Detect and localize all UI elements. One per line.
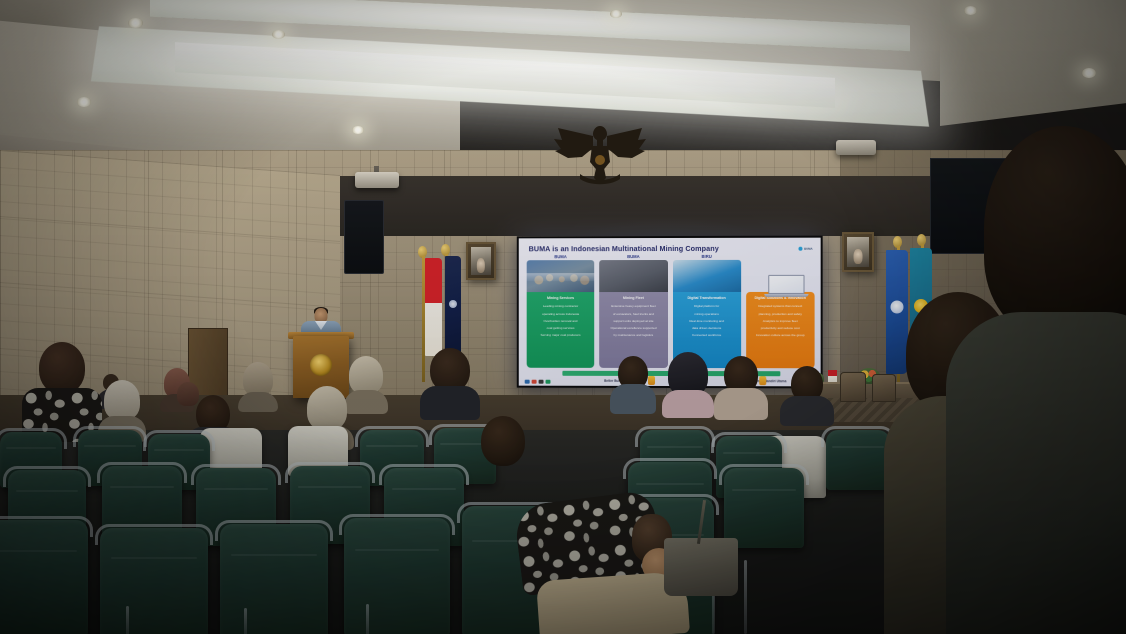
partner-logo-icon — [539, 380, 544, 384]
partner-logo-icon — [546, 380, 551, 384]
slide-column-line: Overburden removal and — [531, 318, 591, 322]
chair-leg — [744, 560, 747, 634]
slide-column-line: support units deployed at site — [603, 319, 663, 323]
chair-leg — [126, 606, 129, 634]
slide-column-line: Real-time monitoring and — [676, 319, 736, 323]
chair[interactable] — [724, 468, 804, 548]
ceiling-projector — [355, 172, 399, 188]
slide-column: BUMA Mining Services Leading mining cont… — [527, 255, 595, 368]
vice-president-portrait — [842, 232, 874, 272]
slide-column: BUMA Mining Fleet Extensive heavy equipm… — [599, 255, 667, 368]
logo-dot-icon — [799, 247, 803, 251]
chair-leg — [244, 608, 247, 634]
slide-corner-logo-text: BUMA — [804, 247, 812, 251]
audience-member — [610, 356, 656, 412]
slide-column-line: Operational excellence supported — [603, 326, 663, 330]
person-torso — [610, 384, 656, 414]
slide-column-photo — [599, 260, 667, 292]
slide-column-line: Connected workforce — [676, 333, 736, 337]
ceiling-projector — [836, 140, 876, 155]
chair[interactable] — [826, 430, 890, 490]
institution-gold-seal — [310, 354, 332, 376]
navy-institution-flag — [445, 256, 461, 360]
president-portrait — [466, 242, 496, 280]
person-torso — [946, 312, 1126, 634]
slide-column-photo — [672, 260, 740, 292]
chair[interactable] — [100, 528, 208, 634]
slide-column-line: Innovation culture across the group — [750, 333, 811, 337]
slide-column-header: BIRU — [672, 254, 740, 259]
slide-column-line: coal getting services — [531, 325, 591, 329]
audience-member-foreground — [980, 126, 1126, 634]
recessed-downlight — [1082, 68, 1096, 78]
recessed-downlight — [352, 126, 364, 134]
slide-column-line: Leading mining contractor — [531, 305, 591, 309]
slide-column-header: BUMA — [599, 254, 667, 259]
slide-column-line: Serving major coal producers — [531, 332, 591, 336]
chair[interactable] — [344, 518, 450, 634]
slide-column-header: BUMA — [527, 254, 595, 259]
chair[interactable] — [220, 524, 328, 634]
slide-column: Digital Solutions & Innovation Integrate… — [746, 255, 815, 369]
laptop-illustration — [768, 275, 804, 299]
wall-upper-dark-band — [340, 176, 1030, 236]
person-torso — [780, 396, 834, 426]
audience-member — [238, 362, 278, 410]
slide-column-line: Analytics to improve fleet — [750, 319, 811, 323]
slide-column-line: Extensive heavy equipment fleet — [603, 304, 663, 308]
slide-column-line: data driven decisions — [676, 326, 736, 330]
hijab — [349, 356, 383, 394]
chair[interactable] — [0, 520, 88, 634]
person-torso — [238, 392, 278, 412]
slide-column-subtitle: Mining Fleet — [603, 296, 663, 301]
person-head — [39, 342, 85, 394]
hijab — [104, 380, 140, 420]
slide-column-line: of excavators, haul trucks and — [603, 312, 663, 316]
recessed-downlight — [128, 18, 143, 28]
partner-logo-icon — [532, 380, 537, 384]
slide-column-subtitle: Digital Transformation — [676, 296, 736, 301]
head-table-chair — [840, 372, 866, 402]
garuda-pancasila-emblem — [552, 112, 648, 190]
audience-member-foreground — [492, 428, 678, 634]
slide-column-body: Mining Services Leading mining contracto… — [527, 292, 595, 368]
slide-partner-logos — [525, 380, 551, 384]
audience-member — [662, 352, 714, 414]
bag — [664, 538, 738, 596]
slide-column-line: productivity and reduce cost — [750, 326, 811, 330]
slide-column-photo — [527, 260, 595, 292]
audience-member — [714, 356, 768, 418]
recessed-downlight — [77, 97, 91, 107]
audience-member — [780, 366, 834, 424]
audience-member — [420, 348, 480, 416]
hijab — [243, 362, 273, 396]
chair-leg — [366, 604, 369, 634]
person-head — [984, 126, 1126, 336]
head-table-chair — [872, 374, 896, 402]
recessed-downlight — [272, 30, 285, 39]
slide-column-subtitle: Mining Services — [531, 296, 591, 300]
slide-column-line: by maintenance and logistics — [603, 333, 663, 337]
auditorium-photo: BUMA is an Indonesian Multinational Mini… — [0, 0, 1126, 634]
slide-column-line: Digital platform for — [676, 304, 736, 308]
partner-logo-icon — [525, 380, 530, 384]
person-torso — [714, 388, 768, 420]
indonesian-flag — [425, 258, 442, 356]
recessed-downlight — [610, 10, 622, 18]
slide-column-line: planning, production and safety — [750, 311, 811, 315]
wall-speaker — [344, 200, 384, 274]
hijab — [307, 386, 347, 430]
slide-corner-logo: BUMA — [799, 247, 813, 251]
slide-column-line: operating across Indonesia — [531, 312, 591, 316]
recessed-downlight — [964, 6, 977, 15]
flag-emblem — [449, 300, 457, 308]
slide-column-line: mining operations — [676, 311, 736, 315]
slide-title: BUMA is an Indonesian Multinational Mini… — [529, 244, 813, 254]
slide-column-line: Integrated systems that connect — [750, 304, 811, 308]
audience-member — [22, 342, 102, 438]
person-torso — [662, 390, 714, 418]
person-torso — [420, 386, 480, 420]
